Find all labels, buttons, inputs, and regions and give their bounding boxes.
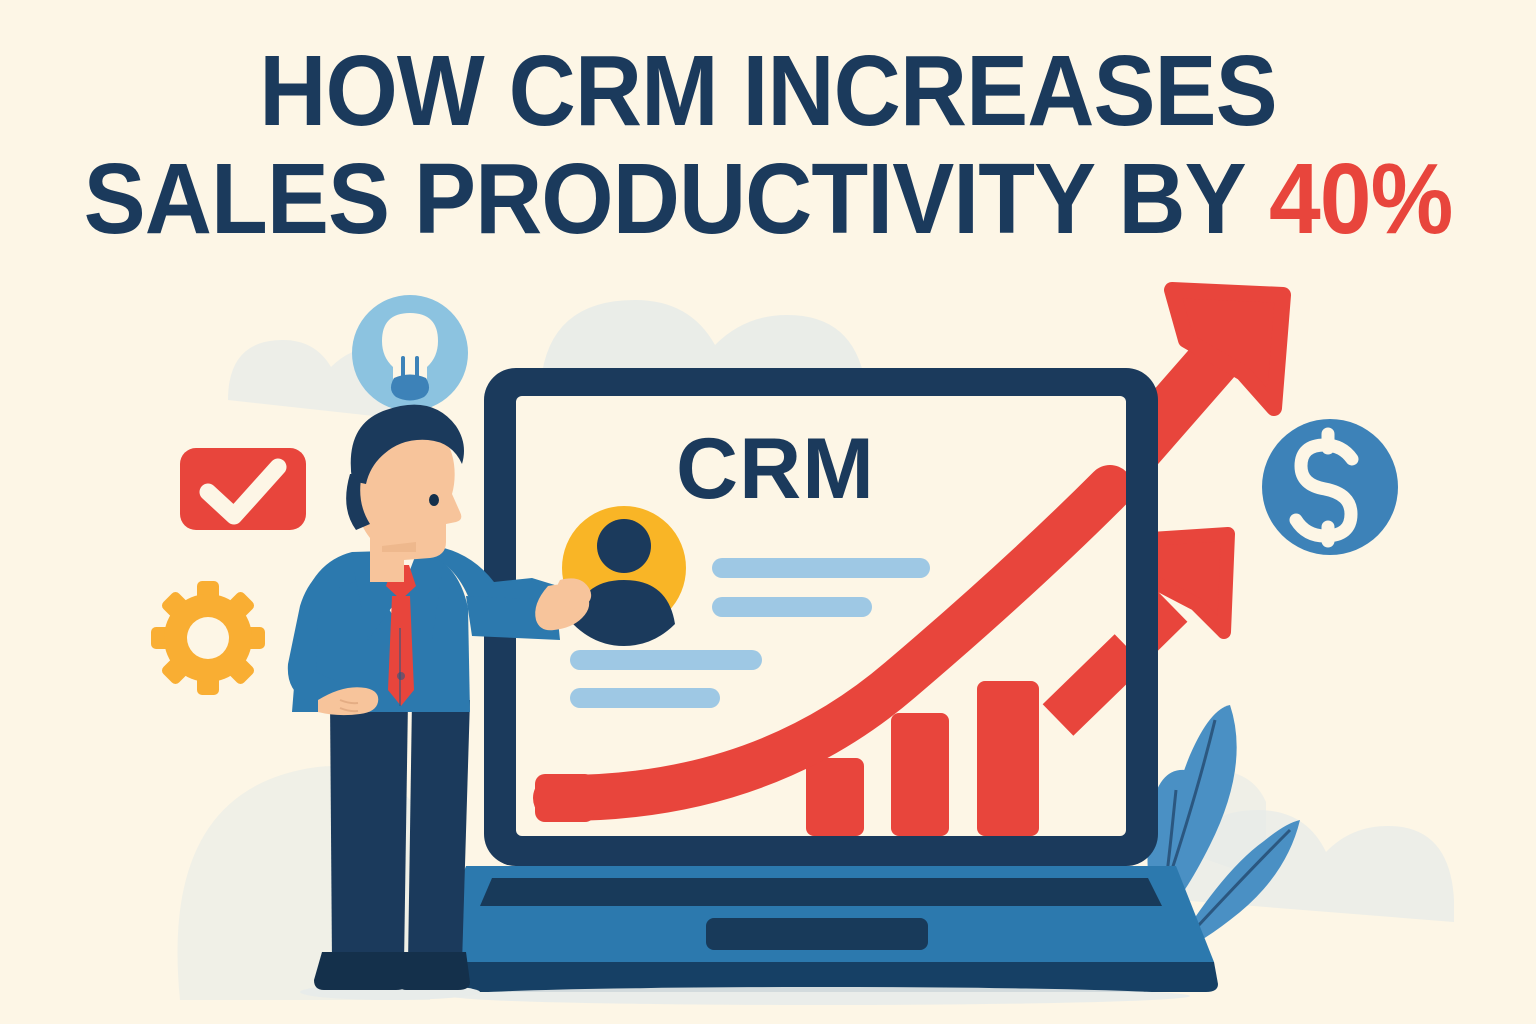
gear-icon[interactable] xyxy=(151,581,265,695)
screen-title-crm: CRM xyxy=(676,420,875,519)
check-icon[interactable] xyxy=(180,448,306,530)
laptop-shadow xyxy=(450,987,1190,1005)
right-leg xyxy=(408,700,470,964)
placeholder-line xyxy=(712,558,930,578)
placeholder-line xyxy=(712,597,872,617)
laptop-trackpad xyxy=(706,918,928,950)
bar-1 xyxy=(806,758,864,836)
left-leg xyxy=(330,700,408,964)
eye xyxy=(429,494,439,506)
laptop-keyboard xyxy=(480,878,1162,906)
left-shoe xyxy=(314,952,408,990)
right-shoe xyxy=(398,952,470,990)
placeholder-line xyxy=(570,688,720,708)
dollar-coin-icon[interactable] xyxy=(1262,419,1398,555)
placeholder-line xyxy=(570,650,762,670)
bar-2 xyxy=(891,713,949,836)
illustration-canvas: HOW CRM INCREASES SALES PRODUCTIVITY BY … xyxy=(0,0,1536,1024)
lightbulb-icon[interactable] xyxy=(352,295,468,411)
user-avatar-icon[interactable] xyxy=(562,506,686,646)
bar-3 xyxy=(977,681,1039,836)
